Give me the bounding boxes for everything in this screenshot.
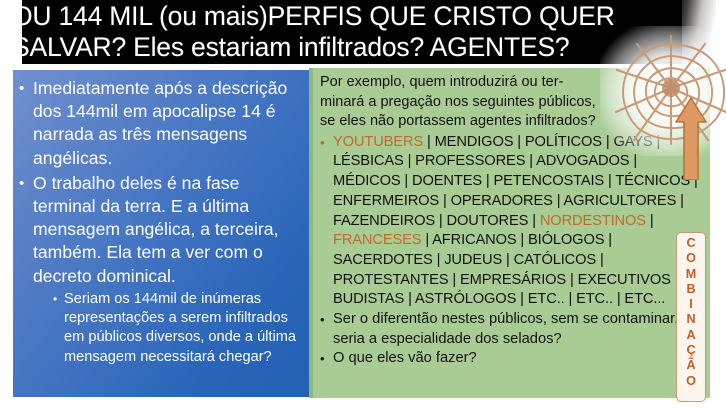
group-tag: DOUTORES	[447, 213, 529, 229]
group-tag: MÉDICOS	[333, 173, 401, 189]
group-tag: EMPRESÁRIOS	[460, 272, 566, 288]
group-separator: |	[604, 232, 612, 248]
bullet-icon: •	[320, 349, 333, 369]
group-separator: |	[401, 173, 413, 189]
combination-letter: N	[686, 312, 697, 327]
combination-letter: M	[686, 267, 697, 282]
group-separator: |	[421, 232, 432, 248]
combination-letter: I	[686, 297, 697, 312]
group-tag: NORDESTINOS	[540, 213, 646, 229]
closing-list-item: • O que eles vão fazer?	[320, 349, 704, 369]
bullet-icon: •	[19, 77, 33, 170]
group-separator: |	[517, 232, 529, 248]
group-separator: |	[629, 153, 637, 169]
group-separator: |	[433, 252, 445, 268]
group-separator: |	[516, 291, 528, 307]
group-separator: |	[553, 193, 564, 209]
combination-label-text: COMBINAÇÃO	[686, 236, 697, 389]
group-separator: |	[482, 173, 494, 189]
group-separator: |	[653, 134, 661, 150]
list-item: • Imediatamente após a descrição dos 144…	[19, 77, 299, 170]
group-separator: |	[502, 252, 514, 268]
group-separator: |	[439, 193, 451, 209]
combination-letter: C	[686, 236, 697, 251]
closing-list-item: • Ser o diferentão nestes públicos, sem …	[320, 310, 704, 349]
group-separator: |	[646, 213, 654, 229]
group-separator: |	[404, 291, 415, 307]
group-tag: ETC...	[624, 291, 665, 307]
group-tag: GAYS	[613, 134, 652, 150]
groups-list-text: YOUTUBERS | MENDIGOS | POLÍTICOS | GAYS …	[333, 133, 704, 310]
group-tag: PROTESTANTES	[333, 272, 448, 288]
group-tag: YOUTUBERS	[333, 134, 423, 150]
group-separator: |	[596, 252, 604, 268]
group-tag: DOENTES	[412, 173, 482, 189]
bullet-icon: •	[53, 290, 64, 367]
sub-list-item: • Seriam os 144mil de inúmeras represent…	[53, 290, 299, 367]
sub-list-item-text: Seriam os 144mil de inúmeras representaç…	[64, 290, 299, 367]
group-tag: CATÓLICOS	[514, 252, 596, 268]
closing-list-item-text: O que eles vão fazer?	[333, 349, 704, 369]
group-tag: FRANCESES	[333, 232, 421, 248]
group-tag: PETENCOSTAIS	[494, 173, 605, 189]
group-separator: |	[566, 272, 578, 288]
group-tag: EXECUTIVOS	[578, 272, 671, 288]
left-content-panel: • Imediatamente após a descrição dos 144…	[13, 70, 309, 397]
group-tag: POLÍTICOS	[525, 134, 602, 150]
group-separator: |	[690, 173, 698, 189]
combination-letter: O	[686, 374, 697, 389]
intro-paragraph: Por exemplo, quem introduzirá ou ter- mi…	[320, 73, 704, 132]
group-separator: |	[602, 134, 614, 150]
bullet-icon: •	[320, 133, 333, 310]
group-tag: ETC..	[528, 291, 565, 307]
list-item-text: Imediatamente após a descrição dos 144mi…	[33, 77, 299, 170]
group-tag: ETC..	[576, 291, 613, 307]
bullet-icon: •	[19, 172, 33, 288]
list-item: • O trabalho deles é na fase terminal da…	[19, 172, 299, 288]
group-tag: SACERDOTES	[333, 252, 433, 268]
group-tag: AGRICULTORES	[563, 193, 676, 209]
group-tag: OPERADORES	[451, 193, 553, 209]
groups-list-item: • YOUTUBERS | MENDIGOS | POLÍTICOS | GAY…	[320, 133, 704, 310]
bullet-icon: •	[320, 310, 333, 349]
right-content-panel: Por exemplo, quem introduzirá ou ter- mi…	[313, 68, 710, 398]
group-tag: BIÓLOGOS	[528, 232, 604, 248]
list-item-text: O trabalho deles é na fase terminal da t…	[33, 172, 299, 288]
group-tag: ADVOGADOS	[536, 153, 629, 169]
group-tag: BUDISTAS	[333, 291, 404, 307]
group-separator: |	[404, 153, 416, 169]
group-separator: |	[423, 134, 435, 150]
group-separator: |	[435, 213, 447, 229]
group-separator: |	[525, 153, 536, 169]
combination-letter: O	[686, 251, 697, 266]
combination-letter: Ç	[686, 343, 697, 358]
group-tag: ASTRÓLOGOS	[415, 291, 516, 307]
closing-list-item-text: Ser o diferentão nestes públicos, sem se…	[333, 310, 704, 349]
group-separator: |	[513, 134, 525, 150]
group-tag: LÉSBICAS	[333, 153, 404, 169]
group-separator: |	[528, 213, 540, 229]
group-separator: |	[676, 193, 684, 209]
group-tag: PROFESSORES	[415, 153, 525, 169]
group-tag: ENFERMEIROS	[333, 193, 439, 209]
group-tag: MENDIGOS	[435, 134, 514, 150]
page-title: OU 144 MIL (ou mais)PERFIS QUE CRISTO QU…	[12, 1, 660, 63]
group-separator: |	[604, 173, 615, 189]
group-separator: |	[613, 291, 625, 307]
group-tag: FAZENDEIROS	[333, 213, 435, 229]
group-tag: JUDEUS	[444, 252, 502, 268]
group-tag: AFRICANOS	[432, 232, 516, 248]
combination-label-box: COMBINAÇÃO	[676, 232, 706, 402]
group-tag: TÉCNICOS	[615, 173, 690, 189]
combination-letter: Ã	[686, 358, 697, 373]
combination-letter: A	[686, 328, 697, 343]
group-separator: |	[448, 272, 460, 288]
group-separator: |	[565, 291, 577, 307]
combination-letter: B	[686, 282, 697, 297]
